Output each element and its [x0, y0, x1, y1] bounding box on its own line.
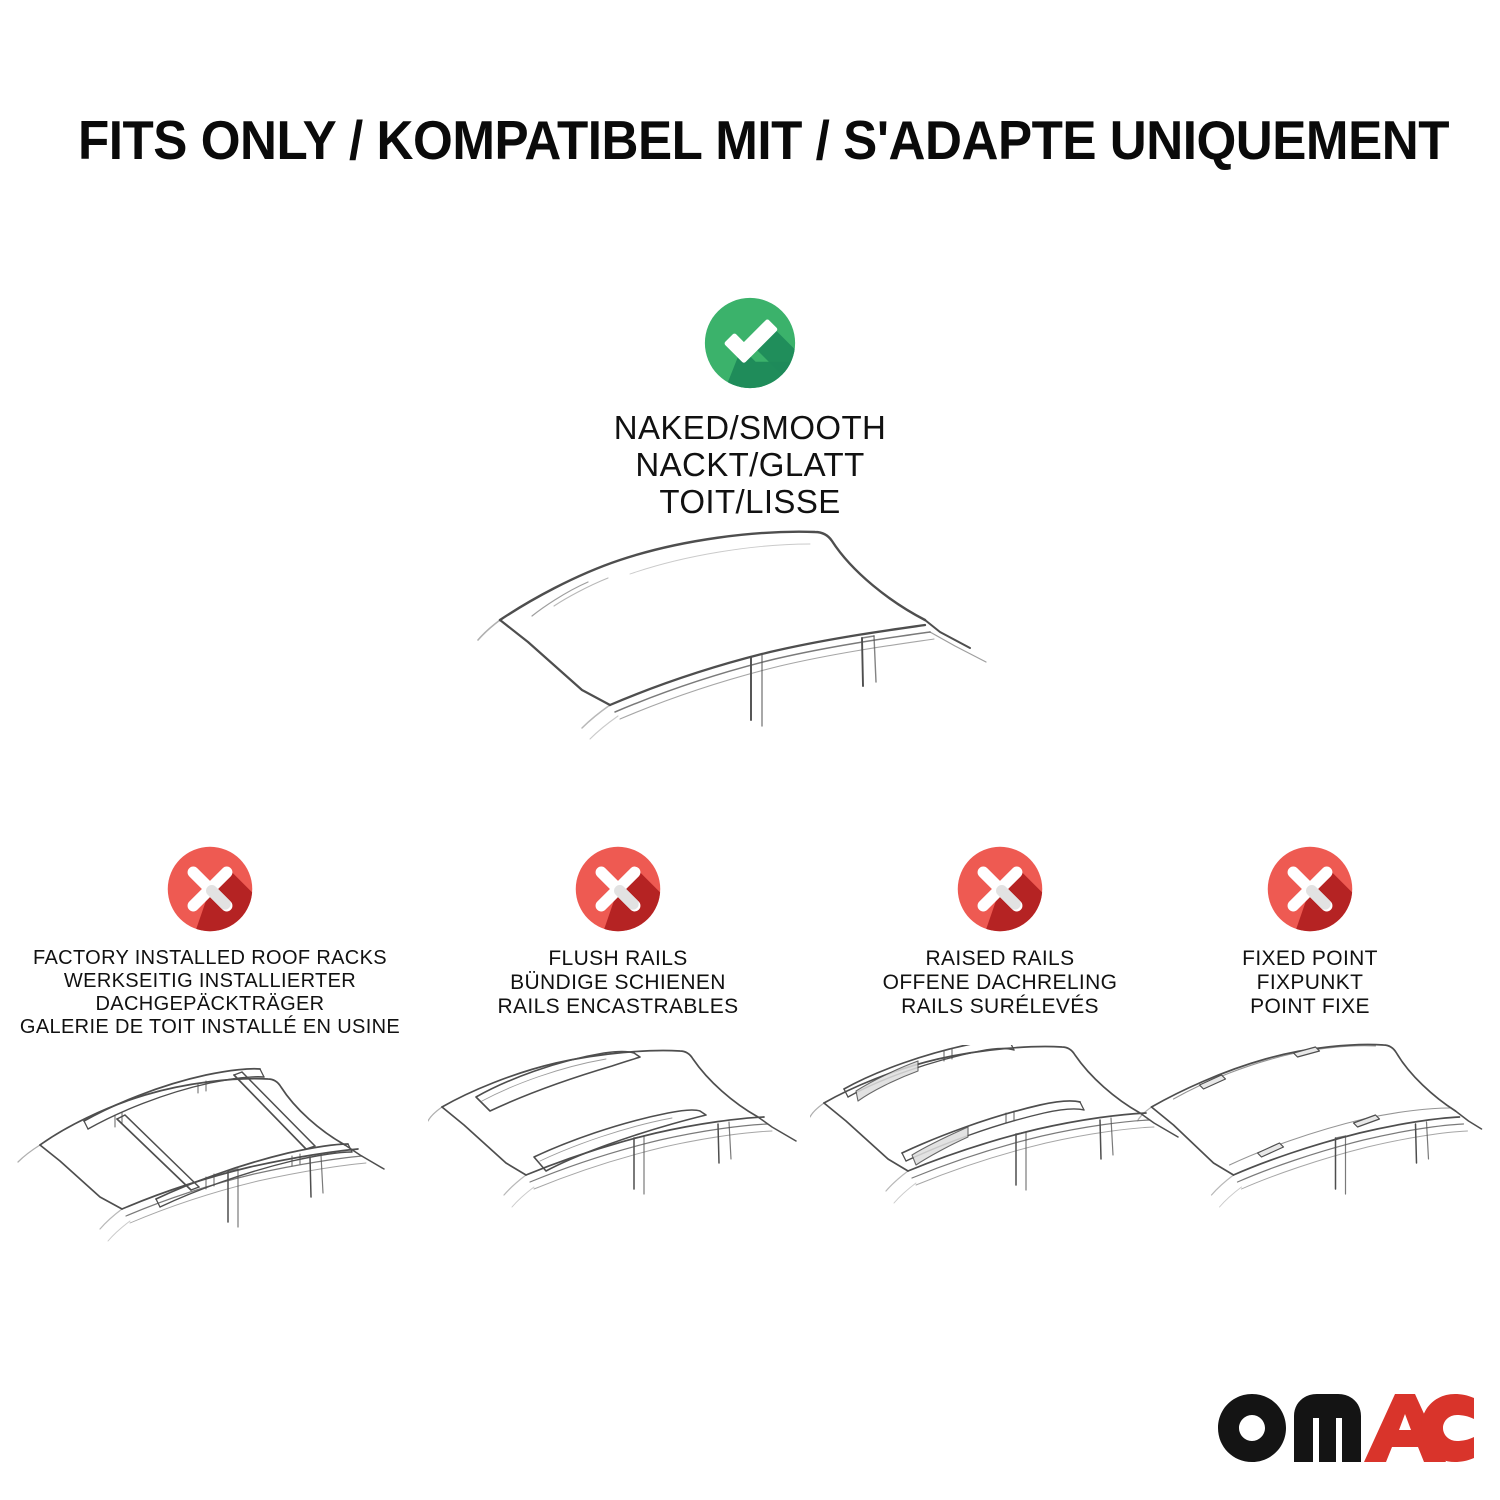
smooth-roof-illustration	[470, 520, 1050, 790]
fixed-point-illustration	[1138, 1041, 1483, 1256]
compatible-label-line-2: NACKT/GLATT	[0, 446, 1500, 483]
cross-circle-icon	[574, 845, 662, 933]
incompatible-item-fixed-point: FIXED POINT FIXPUNKT POINT FIXE	[1150, 845, 1470, 1019]
badge-wrap	[428, 845, 808, 941]
incompatible-item-factory-installed-roof-racks: FACTORY INSTALLED ROOF RACKS WERKSEITIG …	[10, 845, 410, 1039]
badge-wrap	[10, 845, 410, 941]
cross-circle-icon	[1266, 845, 1354, 933]
incompatible-label-line-1: FLUSH RAILS	[428, 947, 808, 971]
incompatible-label-line-2: BÜNDIGE SCHIENEN	[428, 971, 808, 995]
incompatible-label-line-2: WERKSEITIG INSTALLIERTER	[10, 970, 410, 993]
cross-circle-icon	[166, 845, 254, 933]
compatible-label-line-1: NAKED/SMOOTH	[0, 409, 1500, 446]
incompatible-label-line-1: RAISED RAILS	[810, 947, 1190, 971]
check-circle-icon	[703, 296, 797, 390]
badge-wrap	[1150, 845, 1470, 941]
incompatible-label-line-1: FIXED POINT	[1150, 947, 1470, 971]
incompatible-label: FACTORY INSTALLED ROOF RACKS WERKSEITIG …	[10, 947, 410, 1039]
incompatible-label-line-3: RAILS ENCASTRABLES	[428, 995, 808, 1019]
compatible-section: NAKED/SMOOTH NACKT/GLATT TOIT/LISSE	[0, 296, 1500, 520]
cross-circle-icon	[956, 845, 1044, 933]
incompatible-label-line-3: DACHGEPÄCKTRÄGER	[10, 993, 410, 1016]
incompatible-label-line-2: OFFENE DACHRELING	[810, 971, 1190, 995]
compatible-label-line-3: TOIT/LISSE	[0, 483, 1500, 520]
incompatible-label-line-3: RAILS SURÉLEVÉS	[810, 995, 1190, 1019]
incompatible-item-raised-rails: RAISED RAILS OFFENE DACHRELING RAILS SUR…	[810, 845, 1190, 1019]
incompatible-section: FACTORY INSTALLED ROOF RACKS WERKSEITIG …	[0, 845, 1500, 1285]
compatible-label: NAKED/SMOOTH NACKT/GLATT TOIT/LISSE	[0, 409, 1500, 520]
raised-rails-illustration	[810, 1045, 1190, 1260]
factory-roof-rack-illustration	[10, 1057, 410, 1272]
incompatible-item-flush-rails: FLUSH RAILS BÜNDIGE SCHIENEN RAILS ENCAS…	[428, 845, 808, 1019]
incompatible-label-line-2: FIXPUNKT	[1150, 971, 1470, 995]
incompatible-label: RAISED RAILS OFFENE DACHRELING RAILS SUR…	[810, 947, 1190, 1019]
page-title: FITS ONLY / KOMPATIBEL MIT / S'ADAPTE UN…	[78, 108, 1343, 172]
incompatible-label-line-1: FACTORY INSTALLED ROOF RACKS	[10, 947, 410, 970]
incompatible-label: FIXED POINT FIXPUNKT POINT FIXE	[1150, 947, 1470, 1019]
incompatible-label-line-3: POINT FIXE	[1150, 995, 1470, 1019]
incompatible-label-line-4: GALERIE DE TOIT INSTALLÉ EN USINE	[10, 1016, 410, 1039]
badge-wrap	[810, 845, 1190, 941]
flush-rails-illustration	[428, 1045, 808, 1260]
incompatible-label: FLUSH RAILS BÜNDIGE SCHIENEN RAILS ENCAS…	[428, 947, 808, 1019]
omac-logo	[1212, 1388, 1480, 1470]
